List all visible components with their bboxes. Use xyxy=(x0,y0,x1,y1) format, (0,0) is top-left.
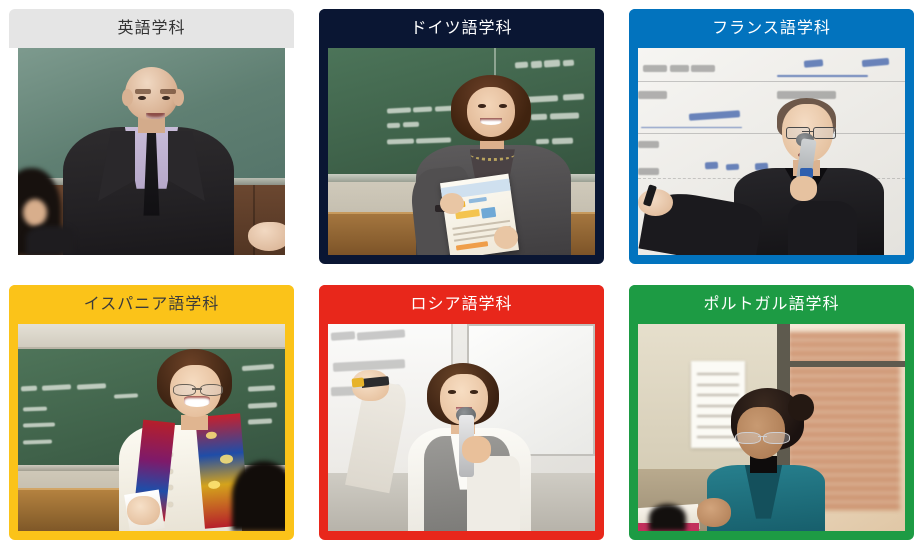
teacher-neck xyxy=(181,415,208,429)
card-header-english: 英語学科 xyxy=(9,9,294,48)
photo-scene-portuguese xyxy=(638,324,905,531)
student-head xyxy=(649,504,686,531)
chalk-line-1a xyxy=(21,386,37,391)
card-photo-german xyxy=(328,48,595,255)
card-header-portuguese: ポルトガル語学科 xyxy=(629,285,914,324)
board-text-nutile xyxy=(638,141,659,148)
glasses-left xyxy=(735,432,761,444)
teacher-hand xyxy=(697,498,732,527)
eye-left xyxy=(478,104,486,108)
card-header-spanish: イスパニア語学科 xyxy=(9,285,294,324)
hand-left xyxy=(440,193,464,214)
eye-right xyxy=(470,390,478,393)
card-header-french: フランス語学科 xyxy=(629,9,914,48)
brow-left xyxy=(135,89,151,94)
eye-right xyxy=(162,96,170,100)
chalk-text-line2a xyxy=(387,122,401,127)
card-french[interactable]: フランス語学科 xyxy=(629,9,914,264)
handwriting-underline-1 xyxy=(777,75,868,77)
card-header-russian: ロシア語学科 xyxy=(319,285,604,324)
handwriting-tu xyxy=(705,161,719,168)
poster-line-1 xyxy=(697,373,740,375)
card-photo-french xyxy=(638,48,905,255)
department-card-grid: 英語学科 xyxy=(0,0,923,551)
card-photo-english xyxy=(18,48,285,255)
chalk-text-right4 xyxy=(550,112,580,119)
hand-holding-mic xyxy=(790,176,817,201)
card-header-german: ドイツ語学科 xyxy=(319,9,604,48)
glasses-bridge xyxy=(192,388,203,389)
scarf-pattern-3 xyxy=(208,480,220,489)
eye-right xyxy=(499,104,507,108)
chalk-text-right6 xyxy=(552,138,574,145)
brow-right xyxy=(160,89,176,94)
booklet-chip-2 xyxy=(469,197,487,203)
glasses-right xyxy=(813,127,836,139)
glasses-right xyxy=(763,432,789,444)
necklace xyxy=(470,147,515,160)
card-german[interactable]: ドイツ語学科 xyxy=(319,9,604,264)
chalk-text-right3 xyxy=(531,114,547,120)
handwriting-es xyxy=(726,164,740,171)
board-text-arcon xyxy=(638,168,659,175)
teacher-turtleneck xyxy=(750,456,777,473)
arm-right xyxy=(788,201,857,255)
board-text-sa-mere xyxy=(643,65,667,72)
glasses-left xyxy=(173,384,196,396)
board-text-donner xyxy=(691,65,715,72)
teacher-face xyxy=(467,87,515,137)
eye-left xyxy=(138,96,146,100)
booklet-chip-4 xyxy=(482,207,497,220)
card-russian[interactable]: ロシア語学科 xyxy=(319,285,604,540)
photo-scene-german xyxy=(328,48,595,255)
eye-left xyxy=(448,390,456,393)
board-text-va-lui xyxy=(670,65,689,72)
glasses-bridge xyxy=(758,436,767,438)
card-photo-russian xyxy=(328,324,595,531)
photo-scene-french xyxy=(638,48,905,255)
poster-line-3 xyxy=(697,394,740,396)
board-rule-1 xyxy=(638,81,905,82)
board-text-pliquer xyxy=(638,91,667,98)
chalk-line-2 xyxy=(23,406,47,411)
chalk-text-line1b xyxy=(413,106,432,112)
ceiling-wall xyxy=(18,324,285,349)
chalk-text-line2b xyxy=(403,121,419,127)
photo-scene-russian xyxy=(328,324,595,531)
scarf-pattern-1 xyxy=(205,431,217,440)
booklet-chip-5 xyxy=(456,242,488,251)
ear-left xyxy=(122,89,133,106)
teacher-hand xyxy=(127,496,159,525)
card-portuguese[interactable]: ポルトガル語学科 xyxy=(629,285,914,540)
card-photo-spanish xyxy=(18,324,285,531)
photo-scene-english xyxy=(18,48,285,255)
scarf-pattern-2 xyxy=(219,454,233,464)
photo-scene-spanish xyxy=(18,324,285,531)
card-spanish[interactable]: イスパニア語学科 xyxy=(9,285,294,540)
poster-line-2 xyxy=(697,384,740,386)
glasses-right xyxy=(200,384,223,396)
hand-right xyxy=(494,226,518,249)
window-frame-horizontal xyxy=(777,361,905,367)
student-sleeve xyxy=(26,226,74,255)
arm-holding-mic xyxy=(467,456,520,531)
card-english[interactable]: 英語学科 xyxy=(9,9,294,264)
laughing-mouth xyxy=(184,396,211,406)
handwriting-underline-2 xyxy=(641,127,742,129)
board-rule-2 xyxy=(638,133,905,134)
marker-cap xyxy=(352,377,365,388)
teacher-hand xyxy=(248,222,285,251)
chalk-text-line3a xyxy=(387,139,414,145)
chalk-text-tschus-2 xyxy=(531,61,542,69)
card-photo-portuguese xyxy=(638,324,905,531)
hand-holding-mic xyxy=(462,436,491,463)
